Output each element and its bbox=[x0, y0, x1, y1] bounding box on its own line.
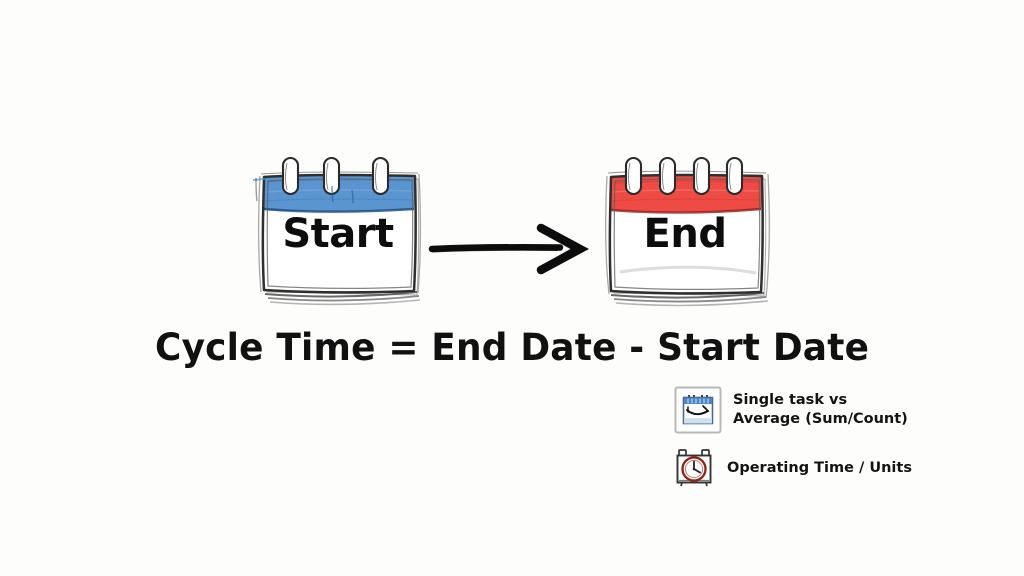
annotation-text-single-task: Single task vs Average (Sum/Count) bbox=[733, 391, 908, 429]
annotation-line: Single task vs bbox=[733, 391, 908, 410]
calendar-node-end[interactable]: End bbox=[610, 168, 760, 290]
formula-line: Cycle Time = End Date - Start Date bbox=[0, 326, 1024, 369]
annotation-row-single-task[interactable]: Single task vs Average (Sum/Count) bbox=[674, 386, 1014, 434]
calendar-rings bbox=[283, 158, 388, 194]
diagram-canvas: Start bbox=[0, 0, 1024, 576]
annotation-list: Single task vs Average (Sum/Count) bbox=[674, 386, 1014, 502]
annotation-line: Average (Sum/Count) bbox=[733, 410, 908, 429]
formula-text: Cycle Time = End Date - Start Date bbox=[155, 326, 869, 369]
calendar-chart-icon bbox=[674, 386, 722, 434]
annotation-line: Operating Time / Units bbox=[727, 459, 912, 478]
alarm-clock-icon bbox=[674, 446, 716, 490]
calendar-node-start[interactable]: Start bbox=[263, 168, 413, 290]
calendar-icon bbox=[596, 152, 781, 312]
annotation-text-operating-time: Operating Time / Units bbox=[727, 459, 912, 478]
calendar-icon bbox=[249, 152, 434, 312]
annotation-row-operating-time[interactable]: Operating Time / Units bbox=[674, 446, 1014, 490]
arrow-connector-icon bbox=[428, 218, 598, 280]
